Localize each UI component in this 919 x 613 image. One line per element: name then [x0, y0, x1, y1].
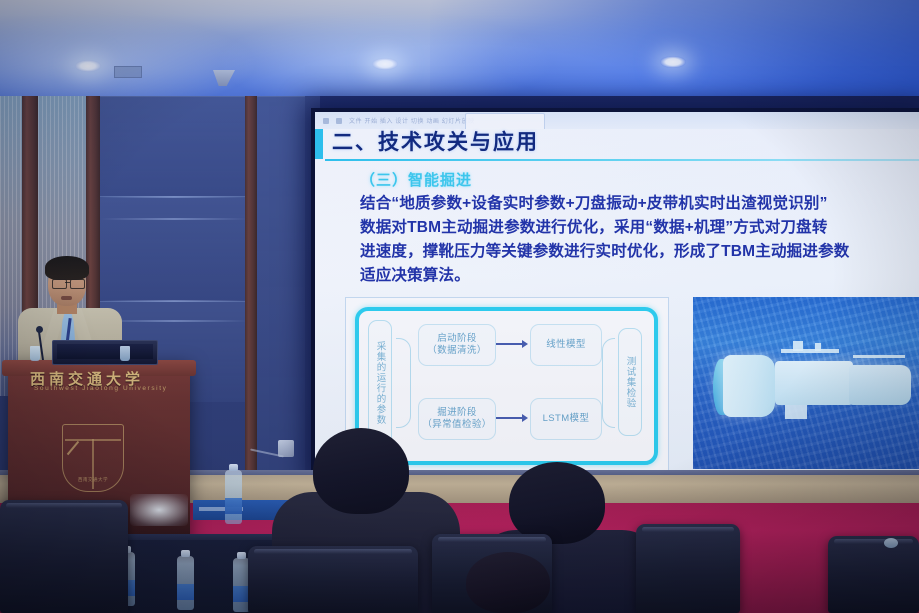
water-cup [884, 538, 898, 548]
diagram-model-box: LSTM模型 [530, 398, 602, 440]
slide-body-text: 结合“地质参数+设备实时参数+刀盘振动+皮带机实时出渣视觉识别” 数据对TBM主… [360, 192, 919, 288]
glasses-icon [52, 279, 67, 289]
stage-detail: （异常值检验） [422, 419, 491, 431]
bottle-cap [237, 552, 246, 559]
diagram-brace-left [396, 338, 411, 428]
wall-seam [100, 320, 248, 322]
speaker-mouth [61, 296, 72, 300]
stage-name: 启动阶段 [437, 333, 477, 345]
bottle-label [177, 584, 194, 600]
stage-name: 掘进阶段 [437, 407, 477, 419]
wall-seam [100, 196, 248, 198]
crest-label: 西南交通大学 [67, 477, 119, 483]
presentation-slide: 文件 开始 插入 设计 切换 动画 幻灯片放映 二、技术攻关与应用 （三）智能掘… [315, 112, 919, 476]
diagram-brace-right [602, 338, 615, 428]
chair-highlight [254, 549, 412, 554]
bottle-cap [229, 464, 238, 471]
lectern-university-name-en: Southwest Jiaotong University [34, 385, 167, 392]
tbm-body [775, 361, 853, 405]
title-underline [325, 159, 919, 161]
water-bottle [225, 470, 242, 524]
water-bottle [177, 556, 194, 610]
model-name: LSTM模型 [543, 413, 590, 425]
slide-subheading: （三）智能掘进 [360, 169, 472, 190]
glasses-icon [70, 279, 85, 289]
ceiling-vent [114, 66, 142, 78]
wall-panel [257, 96, 305, 477]
tbm-strut [853, 355, 905, 358]
model-name: 线性模型 [546, 339, 586, 351]
tbm-strut [793, 341, 803, 351]
chair-highlight [6, 503, 122, 508]
chair-highlight [438, 537, 546, 542]
ceiling-downlight [372, 58, 398, 70]
audience-chair [828, 536, 919, 613]
wood-column [245, 96, 257, 516]
wall-seam [100, 300, 248, 302]
audience-chair [636, 524, 740, 613]
tbm-shield [723, 355, 775, 417]
tbm-strut [781, 349, 839, 353]
diagram-arrow-head-icon [522, 414, 528, 422]
chair-highlight [834, 539, 913, 544]
audience-chair [0, 500, 128, 613]
diagram-arrow [496, 417, 522, 419]
audience-head [313, 428, 409, 514]
conference-room-photo: 文件 开始 插入 设计 切换 动画 幻灯片放映 二、技术攻关与应用 （三）智能掘… [0, 0, 919, 613]
diagram-arrow-head-icon [522, 340, 528, 348]
bottle-label [225, 498, 242, 514]
title-accent-bar [315, 129, 323, 159]
toolbar-dot-icon [323, 118, 329, 124]
projection-screen: 文件 开始 插入 设计 切换 动画 幻灯片放映 二、技术攻关与应用 （三）智能掘… [311, 108, 919, 480]
laptop-on-lectern [52, 340, 158, 365]
chair-highlight [642, 527, 734, 532]
slide-body-line: 进速度，撑靴压力等关键参数进行实时优化，形成了TBM主动掘进参数 [360, 240, 919, 264]
table-monitor-glow [130, 494, 188, 526]
diagram-stage-box: 掘进阶段 （异常值检验） [418, 398, 496, 440]
wall-panel [100, 96, 245, 197]
laptop-screen [57, 344, 153, 359]
diagram-output-box: 测试集检验 [618, 328, 642, 436]
audience-head [466, 552, 550, 613]
slide-body-line: 适应决策算法。 [360, 264, 919, 288]
tbm-machine-photo [693, 297, 919, 469]
diagram-stage-box: 启动阶段 （数据清洗） [418, 324, 496, 366]
university-crest-icon: 西南交通大学 [62, 424, 124, 492]
wall-panel [100, 196, 245, 302]
audience-chair [248, 546, 418, 613]
bottle-cap [181, 550, 190, 557]
water-cup [120, 346, 130, 361]
slide-body-line: 结合“地质参数+设备实时参数+刀盘振动+皮带机实时出渣视觉识别” [360, 192, 919, 216]
tbm-strut [785, 405, 807, 419]
tbm-strut [815, 343, 821, 351]
diagram-input-box: 采集的运行的参数 [368, 320, 392, 446]
ceiling-downlight [660, 56, 686, 68]
toolbar-menu-text: 文件 开始 插入 设计 切换 动画 幻灯片放映 [349, 116, 475, 125]
microphone-icon [36, 326, 43, 333]
stage-detail: （数据清洗） [427, 345, 486, 357]
diagram-model-box: 线性模型 [530, 324, 602, 366]
slide-body-line: 数据对TBM主动掘进参数进行优化，采用“数据+机理”方式对刀盘转 [360, 216, 919, 240]
crest-pickaxe-icon [67, 441, 92, 466]
glasses-bridge-icon [65, 282, 70, 283]
audience-head [509, 462, 605, 544]
tbm-trailing-gear [849, 365, 911, 405]
diagram-arrow [496, 343, 522, 345]
ceiling-downlight [75, 60, 101, 72]
wall-seam [100, 218, 248, 220]
toolbar-dot-icon [336, 118, 342, 124]
speaker-hair [45, 256, 89, 280]
slide-title: 二、技术攻关与应用 [332, 126, 539, 156]
water-cup [30, 346, 40, 361]
ceiling-blue-wash [430, 0, 919, 100]
crest-divider [65, 439, 121, 441]
